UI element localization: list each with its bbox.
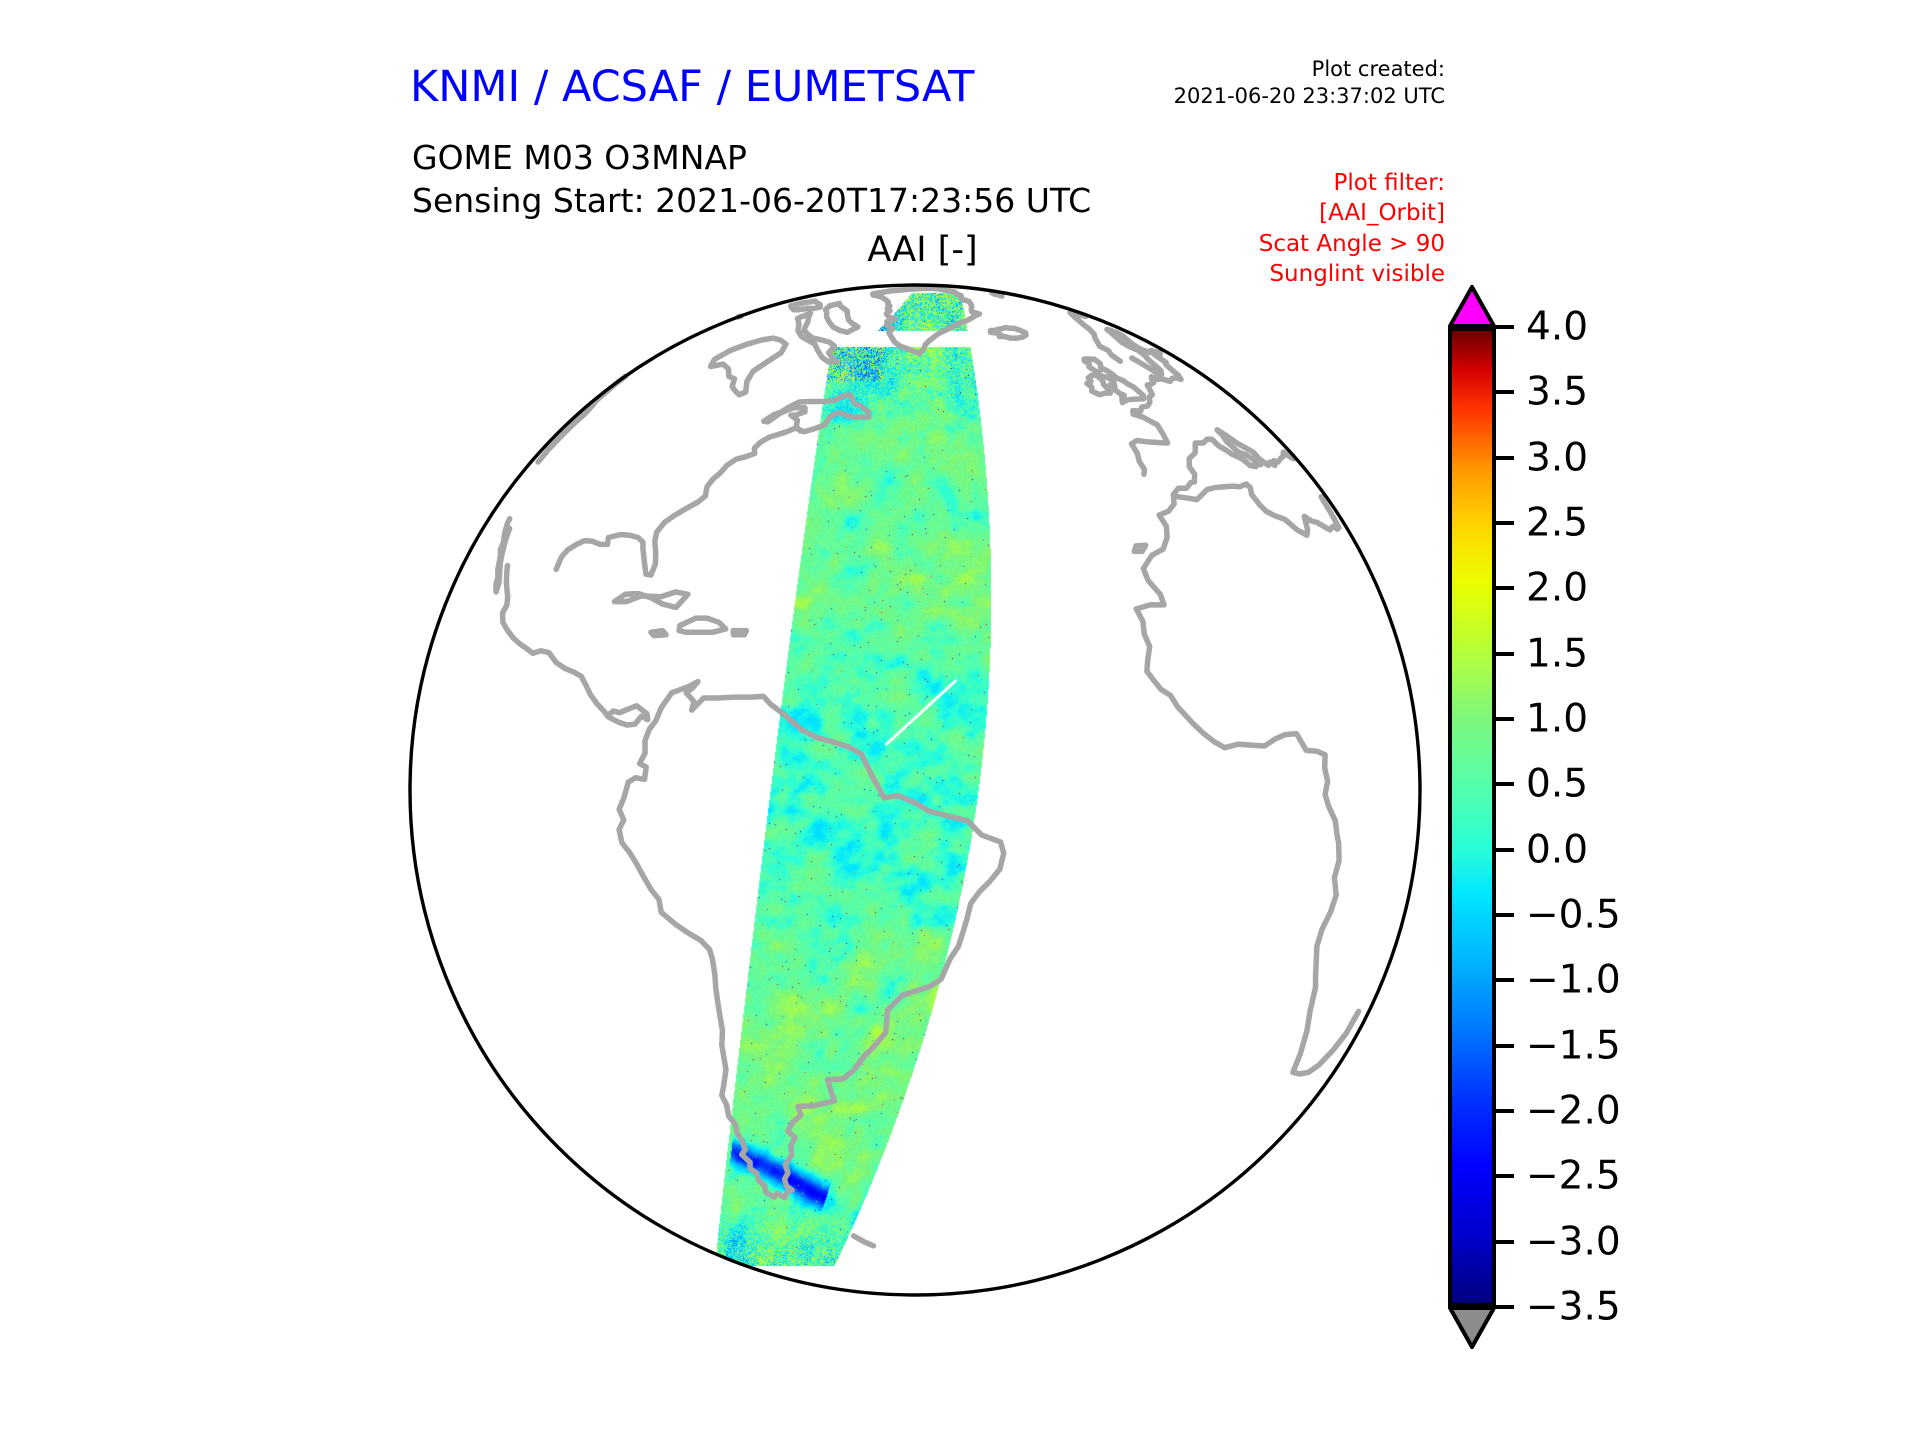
- coastline-path: [619, 682, 1004, 1198]
- colorbar-tick: [1496, 1240, 1514, 1244]
- plot-page: KNMI / ACSAF / EUMETSAT Plot created: 20…: [0, 0, 1920, 1440]
- colorbar-tick: [1496, 586, 1514, 590]
- plot-filter-label: Plot filter:: [1140, 168, 1445, 198]
- coastline-path: [791, 301, 820, 310]
- coastline-path: [1134, 545, 1146, 551]
- plot-created-block: Plot created: 2021-06-20 23:37:02 UTC: [1105, 56, 1445, 110]
- colorbar-tick-label: 1.0: [1526, 697, 1588, 742]
- colorbar-gradient: [1448, 327, 1496, 1307]
- colorbar-tick-label: 0.0: [1526, 827, 1588, 872]
- coastline-path: [1173, 484, 1339, 535]
- colorbar-tick-label: 3.0: [1526, 435, 1588, 480]
- sensing-start: Sensing Start: 2021-06-20T17:23:56 UTC: [412, 180, 1091, 223]
- product-info-block: GOME M03 O3MNAP Sensing Start: 2021-06-2…: [412, 137, 1091, 223]
- colorbar-tick-label: 4.0: [1526, 305, 1588, 350]
- colorbar-tick: [1496, 1044, 1514, 1048]
- coastline-path: [614, 592, 688, 608]
- coastline-path: [733, 631, 746, 635]
- product-name: GOME M03 O3MNAP: [412, 137, 1091, 180]
- quantity-title: AAI [-]: [0, 230, 1845, 270]
- colorbar-tick-label: −2.5: [1526, 1154, 1621, 1199]
- coastline-path: [538, 316, 741, 462]
- colorbar-tick-label: 3.5: [1526, 370, 1588, 415]
- colorbar-tick: [1496, 325, 1514, 329]
- colorbar-tick-label: 1.5: [1526, 631, 1588, 676]
- coastline-path: [1136, 609, 1358, 1074]
- colorbar-tick-label: −1.0: [1526, 958, 1621, 1003]
- globe-map: [400, 275, 1430, 1305]
- coastline-path: [854, 1236, 874, 1246]
- colorbar-under-arrow: [1448, 1307, 1496, 1349]
- colorbar-tick: [1496, 978, 1514, 982]
- coastline-path: [556, 395, 869, 575]
- coastline-path: [711, 338, 786, 395]
- colorbar-tick: [1496, 390, 1514, 394]
- coastline-path: [679, 618, 726, 632]
- plot-filter-scat-angle: Scat Angle > 90: [1140, 229, 1445, 259]
- coastline-path: [503, 566, 648, 726]
- colorbar-tick: [1496, 1174, 1514, 1178]
- colorbar-tick: [1496, 521, 1514, 525]
- colorbar: 4.03.53.02.52.01.51.00.50.0−0.5−1.0−1.5−…: [1434, 280, 1854, 1330]
- colorbar-tick: [1496, 782, 1514, 786]
- coastline-path: [990, 328, 1026, 339]
- colorbar-tick: [1496, 652, 1514, 656]
- colorbar-tick: [1496, 848, 1514, 852]
- colorbar-tick: [1496, 717, 1514, 721]
- coastline-path: [826, 303, 858, 332]
- plot-filter-name: [AAI_Orbit]: [1140, 198, 1445, 228]
- colorbar-tick-label: 0.5: [1526, 762, 1588, 807]
- colorbar-tick-label: 2.5: [1526, 501, 1588, 546]
- coastline-layer: [400, 275, 1430, 1305]
- colorbar-tick-label: −3.0: [1526, 1219, 1621, 1264]
- organization-title: KNMI / ACSAF / EUMETSAT: [410, 62, 974, 112]
- colorbar-tick-label: −2.0: [1526, 1089, 1621, 1134]
- colorbar-over-arrow: [1448, 285, 1496, 327]
- colorbar-tick: [1496, 456, 1514, 460]
- colorbar-tick: [1496, 1109, 1514, 1113]
- plot-created-label: Plot created:: [1105, 56, 1445, 83]
- colorbar-tick-label: 2.0: [1526, 566, 1588, 611]
- coastline-path: [873, 288, 980, 353]
- coastlines: [496, 288, 1359, 1246]
- colorbar-tick-label: −0.5: [1526, 893, 1621, 938]
- colorbar-tick: [1496, 1305, 1514, 1309]
- colorbar-tick: [1496, 913, 1514, 917]
- plot-filter-block: Plot filter: [AAI_Orbit] Scat Angle > 90…: [1140, 168, 1445, 289]
- plot-created-timestamp: 2021-06-20 23:37:02 UTC: [1105, 83, 1445, 110]
- colorbar-tick-label: −1.5: [1526, 1023, 1621, 1068]
- coastline-path: [651, 631, 666, 636]
- colorbar-tick-label: −3.5: [1526, 1285, 1621, 1330]
